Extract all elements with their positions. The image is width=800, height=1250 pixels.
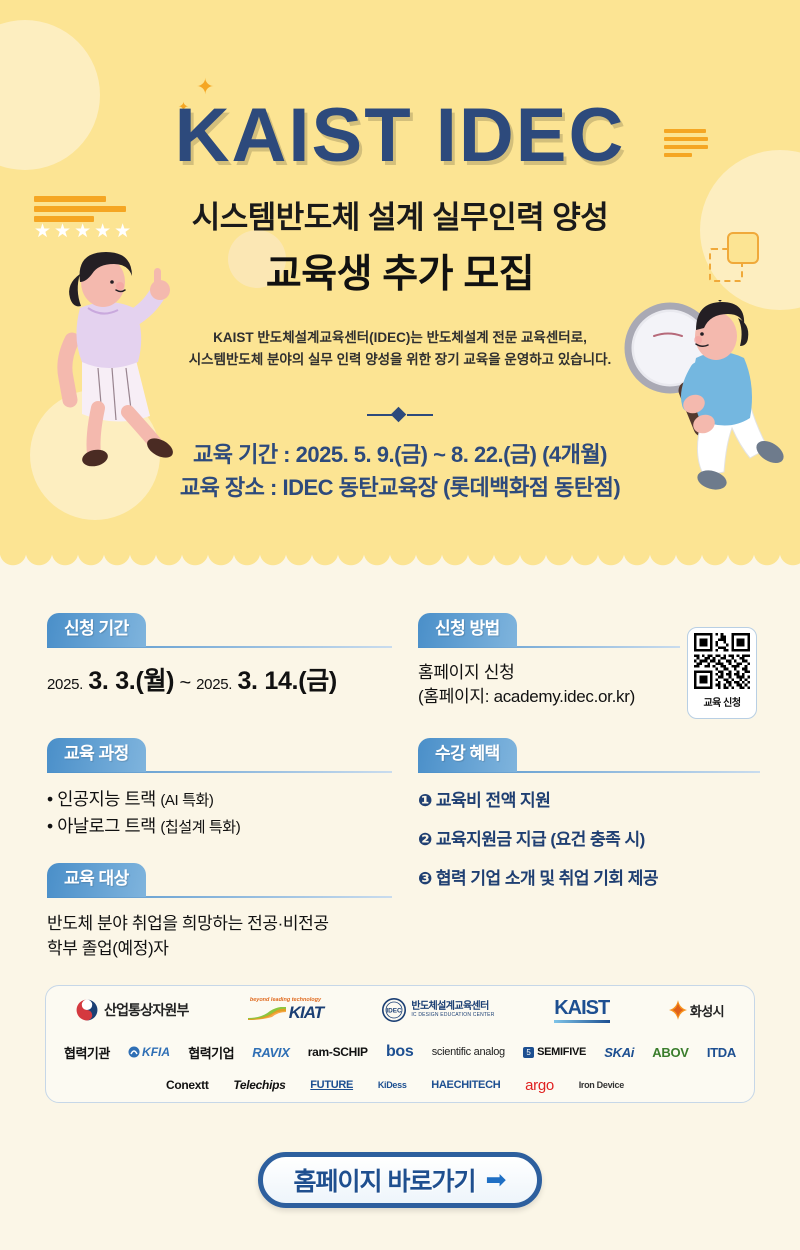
benefit-number-icon: ❶ (418, 791, 432, 810)
section-apply-method: 신청 방법 홈페이지 신청 (홈페이지: academy.idec.or.kr) (418, 613, 680, 710)
logo-motie-text: 산업통상자원부 (104, 1000, 189, 1020)
list-item: 아날로그 트랙 (칩설계 특화) (47, 813, 392, 841)
logo-idec: IDEC 반도체설계교육센터 IC DESIGN EDUCATION CENTE… (382, 998, 494, 1022)
apply-method-line-2: (홈페이지: academy.idec.or.kr) (418, 685, 680, 710)
benefit-text: 교육지원금 지급 (요건 충족 시) (436, 830, 645, 849)
hero-description-line-2: 시스템반도체 분야의 실무 인력 양성을 위한 장기 교육을 운영하고 있습니다… (0, 349, 800, 371)
logo-idec-tagline: IC DESIGN EDUCATION CENTER (411, 1013, 494, 1019)
apply-period-date-to: 3. 14.(금) (237, 667, 337, 695)
target-line-2: 학부 졸업(예정)자 (47, 936, 392, 962)
logo-kidess: KiDess (378, 1080, 407, 1090)
homepage-link-button[interactable]: 홈페이지 바로가기 ➡ (258, 1152, 542, 1208)
apply-period-body: 2025. 3. 3.(월) ~ 2025. 3. 14.(금) (47, 648, 392, 697)
logo-motie: 산업통상자원부 (76, 999, 189, 1021)
course-item-main: 아날로그 트랙 (57, 816, 160, 836)
hero-description-line-1: KAIST 반도체설계교육센터(IDEC)는 반도체설계 전문 교육센터로, (0, 327, 800, 349)
benefit-text: 협력 기업 소개 및 취업 기회 제공 (436, 869, 658, 888)
list-item: ❶교육비 전액 지원 (418, 786, 760, 811)
badge-target: 교육 대상 (47, 863, 146, 897)
taegeuk-icon (76, 999, 98, 1021)
hero-subtitle-2: 교육생 추가 모집 (0, 243, 800, 299)
logo-abov: ABOV (652, 1045, 688, 1060)
apply-period-year-from: 2025. (47, 676, 83, 693)
apply-period-date-from: 3. 3.(월) (88, 667, 174, 695)
idec-seal-icon: IDEC (382, 998, 406, 1022)
logo-kfia: KFIA (128, 1045, 170, 1059)
arrow-right-icon: ➡ (486, 1168, 507, 1193)
course-item-main: 인공지능 트랙 (57, 789, 160, 809)
apply-period-year-to: 2025. (196, 676, 232, 693)
section-benefits: 수강 혜택 ❶교육비 전액 지원 ❷교육지원금 지급 (요건 충족 시) ❸협력… (418, 738, 760, 903)
logo-kiat-text: KIAT (289, 1003, 323, 1023)
homepage-link-label: 홈페이지 바로가기 (294, 1162, 476, 1198)
logo-haechitech: HAECHITECH (431, 1079, 500, 1091)
apply-method-body: 홈페이지 신청 (홈페이지: academy.idec.or.kr) (418, 648, 680, 710)
logo-skai: SKAi (604, 1045, 634, 1060)
logo-scientific-analog: scientific analog (432, 1046, 505, 1058)
course-item-sub: (칩설계 특화) (160, 819, 240, 836)
qr-code-box[interactable]: 교육 신청 (687, 627, 757, 719)
label-partner-org: 협력기관 (64, 1043, 110, 1062)
badge-apply-period: 신청 기간 (47, 613, 146, 647)
logo-ramschip: ram-SCHIP (308, 1045, 368, 1059)
list-item: 인공지능 트랙 (AI 특화) (47, 786, 392, 814)
benefit-number-icon: ❸ (418, 869, 432, 888)
logo-hwaseong: 화성시 (669, 1000, 724, 1020)
list-item: ❸협력 기업 소개 및 취업 기회 제공 (418, 864, 760, 889)
target-line-1: 반도체 분야 취업을 희망하는 전공·비전공 (47, 911, 392, 937)
logo-conextt: Conextt (166, 1078, 209, 1092)
hero-section: ★★★★★ ✦ ✦ (0, 0, 800, 580)
benefits-list: ❶교육비 전액 지원 ❷교육지원금 지급 (요건 충족 시) ❸협력 기업 소개… (418, 773, 760, 889)
logo-row-government: 산업통상자원부 beyond leading technology KIAT (46, 986, 754, 1034)
diamond-divider-icon (367, 408, 433, 422)
education-place: 교육 장소 : IDEC 동탄교육장 (롯데백화점 동탄점) (0, 470, 800, 502)
logo-kfia-text: KFIA (142, 1045, 170, 1059)
section-apply-period: 신청 기간 2025. 3. 3.(월) ~ 2025. 3. 14.(금) (47, 613, 392, 697)
course-item-sub: (AI 특화) (160, 792, 213, 809)
logo-panel: 산업통상자원부 beyond leading technology KIAT (45, 985, 755, 1103)
badge-apply-method: 신청 방법 (418, 613, 517, 647)
badge-benefits: 수강 혜택 (418, 738, 517, 772)
course-list: 인공지능 트랙 (AI 특화) 아날로그 트랙 (칩설계 특화) (47, 773, 392, 841)
label-partner-company: 협력기업 (188, 1043, 234, 1062)
kfia-mark-icon (128, 1046, 140, 1058)
page-title: KAIST IDEC (0, 92, 800, 179)
logo-argo: argo (525, 1077, 554, 1094)
section-target: 교육 대상 반도체 분야 취업을 희망하는 전공·비전공 학부 졸업(예정)자 (47, 863, 392, 962)
scalloped-divider (0, 552, 800, 580)
hero-subtitle-1: 시스템반도체 설계 실무인력 양성 (0, 192, 800, 237)
logo-bos: bos (386, 1043, 414, 1061)
poster-root: ★★★★★ ✦ ✦ (0, 0, 800, 1250)
logo-iron-device: Iron Device (579, 1080, 624, 1090)
benefit-number-icon: ❷ (418, 830, 432, 849)
logo-kiat: beyond leading technology KIAT (248, 997, 323, 1023)
qr-code-icon[interactable] (694, 633, 750, 689)
apply-period-separator: ~ (179, 672, 190, 694)
logo-kaist: KAIST (554, 997, 610, 1023)
logo-ravix: RAVIX (252, 1045, 289, 1060)
hwaseong-mark-icon (669, 1000, 687, 1020)
logo-semifive: 5 SEMIFIVE (523, 1046, 586, 1058)
logo-row-companies-1: 협력기관 KFIA 협력기업 RAVIX ram-SCHIP bos scien… (46, 1034, 754, 1070)
education-period: 교육 기간 : 2025. 5. 9.(금) ~ 8. 22.(금) (4개월) (0, 437, 800, 469)
apply-period-range: 2025. 3. 3.(월) ~ 2025. 3. 14.(금) (47, 661, 392, 697)
section-course: 교육 과정 인공지능 트랙 (AI 특화) 아날로그 트랙 (칩설계 특화) (47, 738, 392, 841)
hero-description: KAIST 반도체설계교육센터(IDEC)는 반도체설계 전문 교육센터로, 시… (0, 327, 800, 371)
logo-telechips: Telechips (233, 1078, 285, 1092)
list-item: ❷교육지원금 지급 (요건 충족 시) (418, 825, 760, 850)
logo-future: FUTURE (310, 1079, 353, 1091)
benefit-text: 교육비 전액 지원 (436, 791, 550, 810)
qr-caption: 교육 신청 (703, 694, 740, 709)
logo-itda: ITDA (707, 1045, 736, 1060)
svg-text:IDEC: IDEC (387, 1007, 403, 1014)
target-body: 반도체 분야 취업을 희망하는 전공·비전공 학부 졸업(예정)자 (47, 898, 392, 962)
logo-kaist-text: KAIST (554, 997, 609, 1020)
kiat-swoosh-icon (248, 1007, 286, 1020)
logo-row-companies-2: Conextt Telechips FUTURE KiDess HAECHITE… (46, 1070, 754, 1100)
badge-course: 교육 과정 (47, 738, 146, 772)
logo-hwaseong-text: 화성시 (690, 1001, 724, 1020)
apply-method-line-1: 홈페이지 신청 (418, 661, 680, 686)
